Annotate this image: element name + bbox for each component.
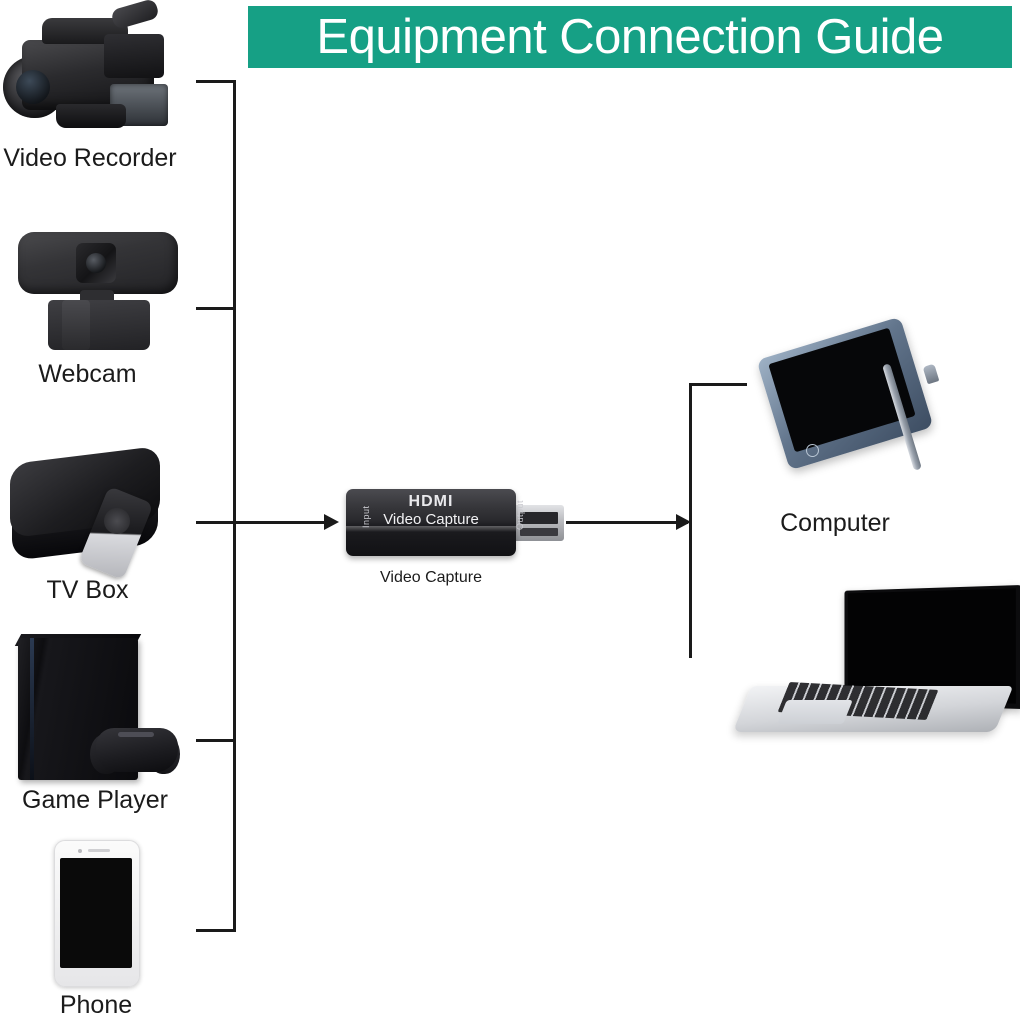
left-bracket-spine — [233, 80, 236, 932]
equipment-connection-guide-page: Equipment Connection Guide Video Recorde… — [0, 0, 1020, 1020]
camcorder-lens-glass — [16, 70, 50, 104]
right-bracket-stub-tablet — [689, 383, 747, 386]
gamepad-touchbar — [118, 732, 154, 737]
label-tv-box: TV Box — [0, 578, 175, 603]
camcorder-grip — [56, 104, 126, 128]
label-webcam: Webcam — [0, 362, 175, 387]
arrow-sources-to-capture-head — [324, 514, 339, 530]
webcam-clip-tab — [62, 300, 90, 350]
label-video-recorder: Video Recorder — [0, 146, 180, 171]
smartphone-earpiece — [88, 849, 110, 852]
video-capture-brand-text: HDMI — [376, 494, 486, 510]
left-bracket-stub-webcam — [196, 307, 236, 310]
webcam-lens — [86, 253, 106, 273]
right-bracket-spine — [689, 383, 692, 658]
usb-contact-upper — [520, 512, 558, 524]
left-bracket-stub-phone — [196, 929, 236, 932]
left-bracket-stub-recorder — [196, 80, 236, 83]
laptop-trackpad — [777, 700, 853, 724]
label-phone: Phone — [6, 993, 186, 1018]
label-game-player: Game Player — [0, 788, 190, 813]
arrow-capture-to-computer-line — [566, 521, 688, 524]
video-capture-input-port-label: Input — [361, 505, 371, 528]
smartphone-screen — [60, 858, 132, 968]
smartphone-front-camera — [78, 849, 82, 853]
label-video-capture: Video Capture — [346, 570, 516, 586]
camcorder-microphone — [110, 0, 160, 30]
camcorder-viewfinder — [104, 34, 164, 78]
header-banner: Equipment Connection Guide — [248, 6, 1012, 68]
label-computer: Computer — [730, 511, 940, 536]
video-capture-output-port-label: Output — [515, 500, 525, 530]
stylus-cap — [923, 364, 940, 385]
page-title: Equipment Connection Guide — [316, 13, 943, 62]
usb-contact-lower — [520, 528, 558, 536]
game-console-light-strip — [30, 638, 34, 780]
left-bracket-stub-game — [196, 739, 236, 742]
arrow-sources-to-capture-line — [196, 521, 334, 524]
video-capture-model-text: Video Capture — [366, 512, 496, 527]
